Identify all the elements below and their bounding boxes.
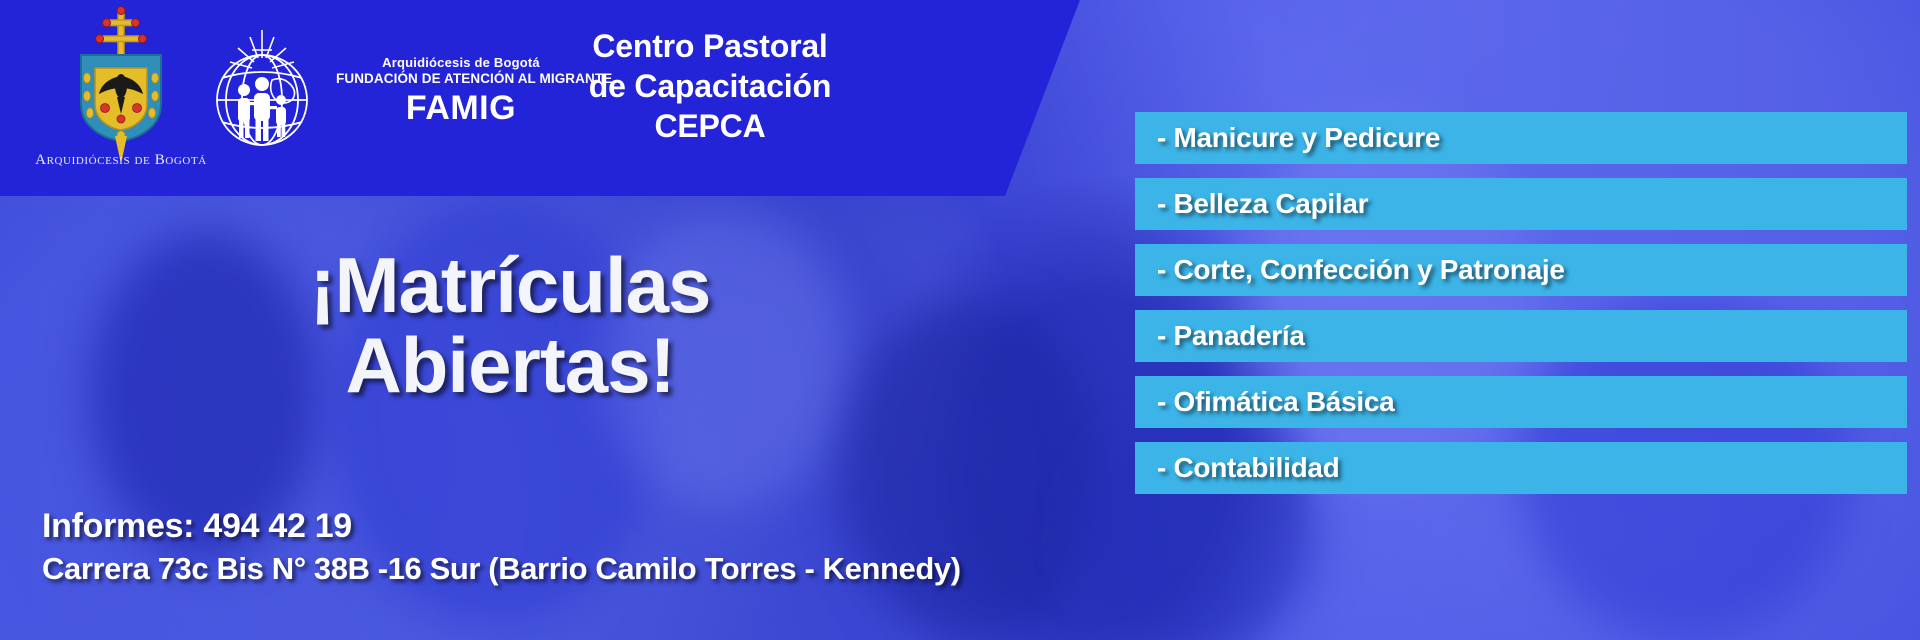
cepca-title-line1: Centro Pastoral (500, 26, 920, 66)
shield-icon (78, 52, 164, 144)
address-line: Carrera 73c Bis N° 38B -16 Sur (Barrio C… (42, 549, 961, 589)
headline-line2: Abiertas! (150, 325, 870, 405)
course-list: - Manicure y Pedicure - Belleza Capilar … (1135, 112, 1907, 494)
photo-silhouette (840, 300, 1100, 640)
promotional-banner: Arquidiócesis de Bogotá (0, 0, 1920, 640)
cepca-title-line3: CEPCA (500, 106, 920, 146)
cepca-title-line2: de Capacitación (500, 66, 920, 106)
contact-info: Informes: 494 42 19 Carrera 73c Bis N° 3… (42, 505, 961, 588)
headline: ¡Matrículas Abiertas! (150, 245, 870, 406)
course-label: - Contabilidad (1157, 452, 1339, 484)
logo-row: Arquidiócesis de Bogotá (0, 0, 1080, 196)
course-item[interactable]: - Panadería (1135, 310, 1907, 362)
coat-of-arms-label: Arquidiócesis de Bogotá (10, 152, 232, 169)
course-label: - Belleza Capilar (1157, 188, 1368, 220)
course-label: - Panadería (1157, 320, 1305, 352)
course-label: - Ofimática Básica (1157, 386, 1394, 418)
archdiocese-coat-of-arms-icon (62, 4, 180, 164)
course-item[interactable]: - Ofimática Básica (1135, 376, 1907, 428)
phone-line: Informes: 494 42 19 (42, 505, 961, 549)
course-item[interactable]: - Contabilidad (1135, 442, 1907, 494)
headline-line1: ¡Matrículas (150, 245, 870, 325)
course-label: - Manicure y Pedicure (1157, 122, 1440, 154)
course-item[interactable]: - Manicure y Pedicure (1135, 112, 1907, 164)
header-panel: Arquidiócesis de Bogotá (0, 0, 1080, 196)
course-item[interactable]: - Corte, Confección y Patronaje (1135, 244, 1907, 296)
course-label: - Corte, Confección y Patronaje (1157, 254, 1565, 286)
famig-globe-family-icon (200, 28, 324, 152)
course-item[interactable]: - Belleza Capilar (1135, 178, 1907, 230)
cepca-title: Centro Pastoral de Capacitación CEPCA (500, 26, 920, 146)
